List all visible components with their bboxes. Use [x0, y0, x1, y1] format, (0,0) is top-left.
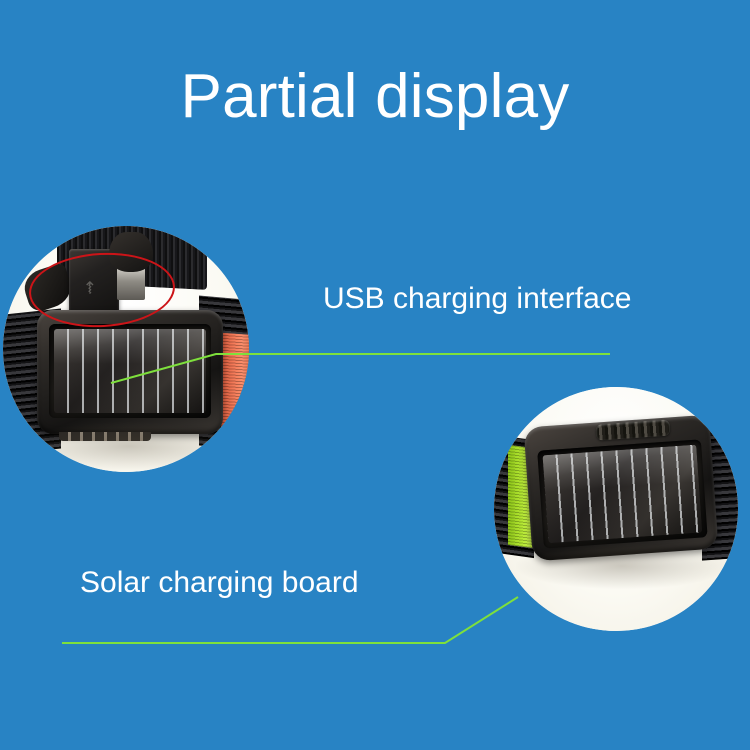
leader-line-solar: [50, 575, 540, 655]
page-root: Partial display ⇜: [0, 0, 750, 750]
housing-top-ridge: [596, 419, 671, 440]
leader-line-solar-path: [62, 597, 518, 643]
solar-panel-well-2: [537, 439, 707, 548]
solar-cell-board-view: [543, 445, 703, 544]
page-title: Partial display: [0, 58, 750, 136]
leader-line-usb: [100, 330, 710, 390]
callout-label-usb: USB charging interface: [323, 281, 632, 317]
headlamp-housing-2: [524, 415, 719, 562]
housing-bottom-notches: [59, 432, 151, 441]
leader-line-usb-path: [111, 354, 610, 383]
